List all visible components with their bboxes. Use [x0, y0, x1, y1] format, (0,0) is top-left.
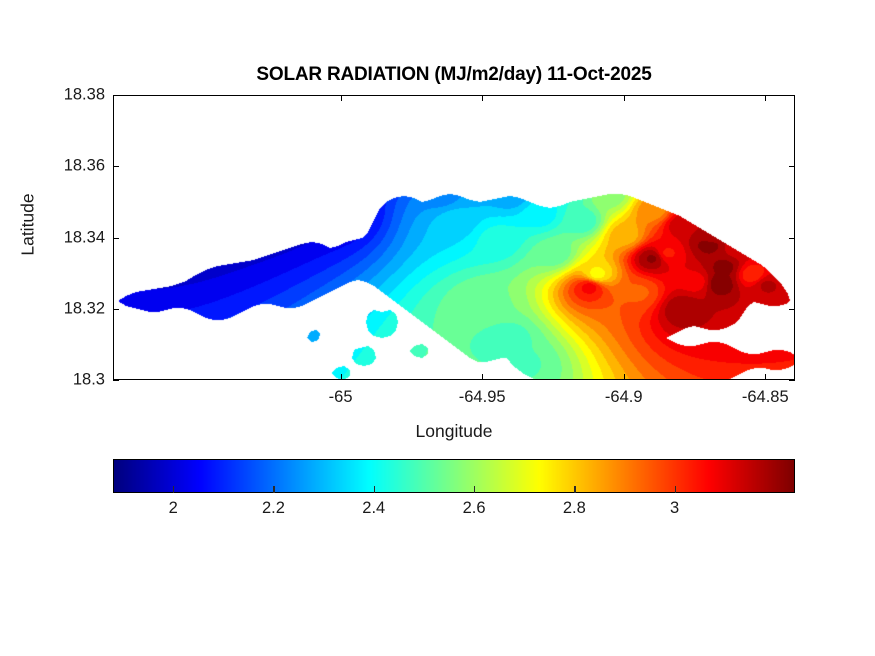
x-tick-mark	[482, 95, 483, 101]
colorbar-tick-mark	[374, 486, 375, 493]
y-tick-mark	[789, 166, 795, 167]
y-tick-mark	[789, 95, 795, 96]
x-tick-mark	[341, 374, 342, 380]
x-tick-label: -65	[329, 388, 353, 407]
colorbar-tick-label: 2.4	[362, 499, 385, 518]
colorbar-tick-label: 3	[670, 499, 679, 518]
x-tick-label: -64.85	[742, 388, 789, 407]
y-tick-label: 18.36	[37, 157, 105, 176]
colorbar-tick-mark	[574, 486, 575, 493]
y-tick-label: 18.38	[37, 86, 105, 105]
x-tick-mark	[624, 374, 625, 380]
colorbar-tick-mark	[173, 486, 174, 493]
y-tick-mark	[113, 238, 119, 239]
x-tick-mark	[765, 374, 766, 380]
y-tick-mark	[113, 95, 119, 96]
colorbar-tick-label: 2.8	[563, 499, 586, 518]
colorbar-tick-label: 2.2	[262, 499, 285, 518]
x-tick-mark	[624, 95, 625, 101]
y-tick-mark	[113, 309, 119, 310]
y-tick-mark	[113, 166, 119, 167]
y-tick-mark	[789, 238, 795, 239]
x-tick-mark	[482, 374, 483, 380]
x-tick-mark	[341, 95, 342, 101]
colorbar-tick-mark	[273, 486, 274, 493]
y-tick-label: 18.32	[37, 299, 105, 318]
y-tick-mark	[113, 380, 119, 381]
y-tick-mark	[789, 380, 795, 381]
x-axis-label: Longitude	[113, 421, 795, 442]
solar-radiation-heatmap	[114, 96, 795, 380]
colorbar-tick-label: 2	[169, 499, 178, 518]
colorbar-gradient	[113, 459, 795, 493]
y-axis-label: Latitude	[18, 175, 39, 275]
y-tick-label: 18.34	[37, 228, 105, 247]
x-tick-label: -64.95	[459, 388, 506, 407]
page-title: SOLAR RADIATION (MJ/m2/day) 11-Oct-2025	[113, 64, 795, 86]
colorbar	[113, 459, 795, 493]
x-tick-label: -64.9	[605, 388, 643, 407]
colorbar-tick-label: 2.6	[463, 499, 486, 518]
matlab-figure: SOLAR RADIATION (MJ/m2/day) 11-Oct-2025 …	[0, 0, 875, 656]
y-tick-mark	[789, 309, 795, 310]
colorbar-tick-mark	[675, 486, 676, 493]
map-axes	[113, 95, 795, 380]
x-tick-mark	[765, 95, 766, 101]
colorbar-tick-mark	[474, 486, 475, 493]
y-tick-label: 18.3	[37, 371, 105, 390]
